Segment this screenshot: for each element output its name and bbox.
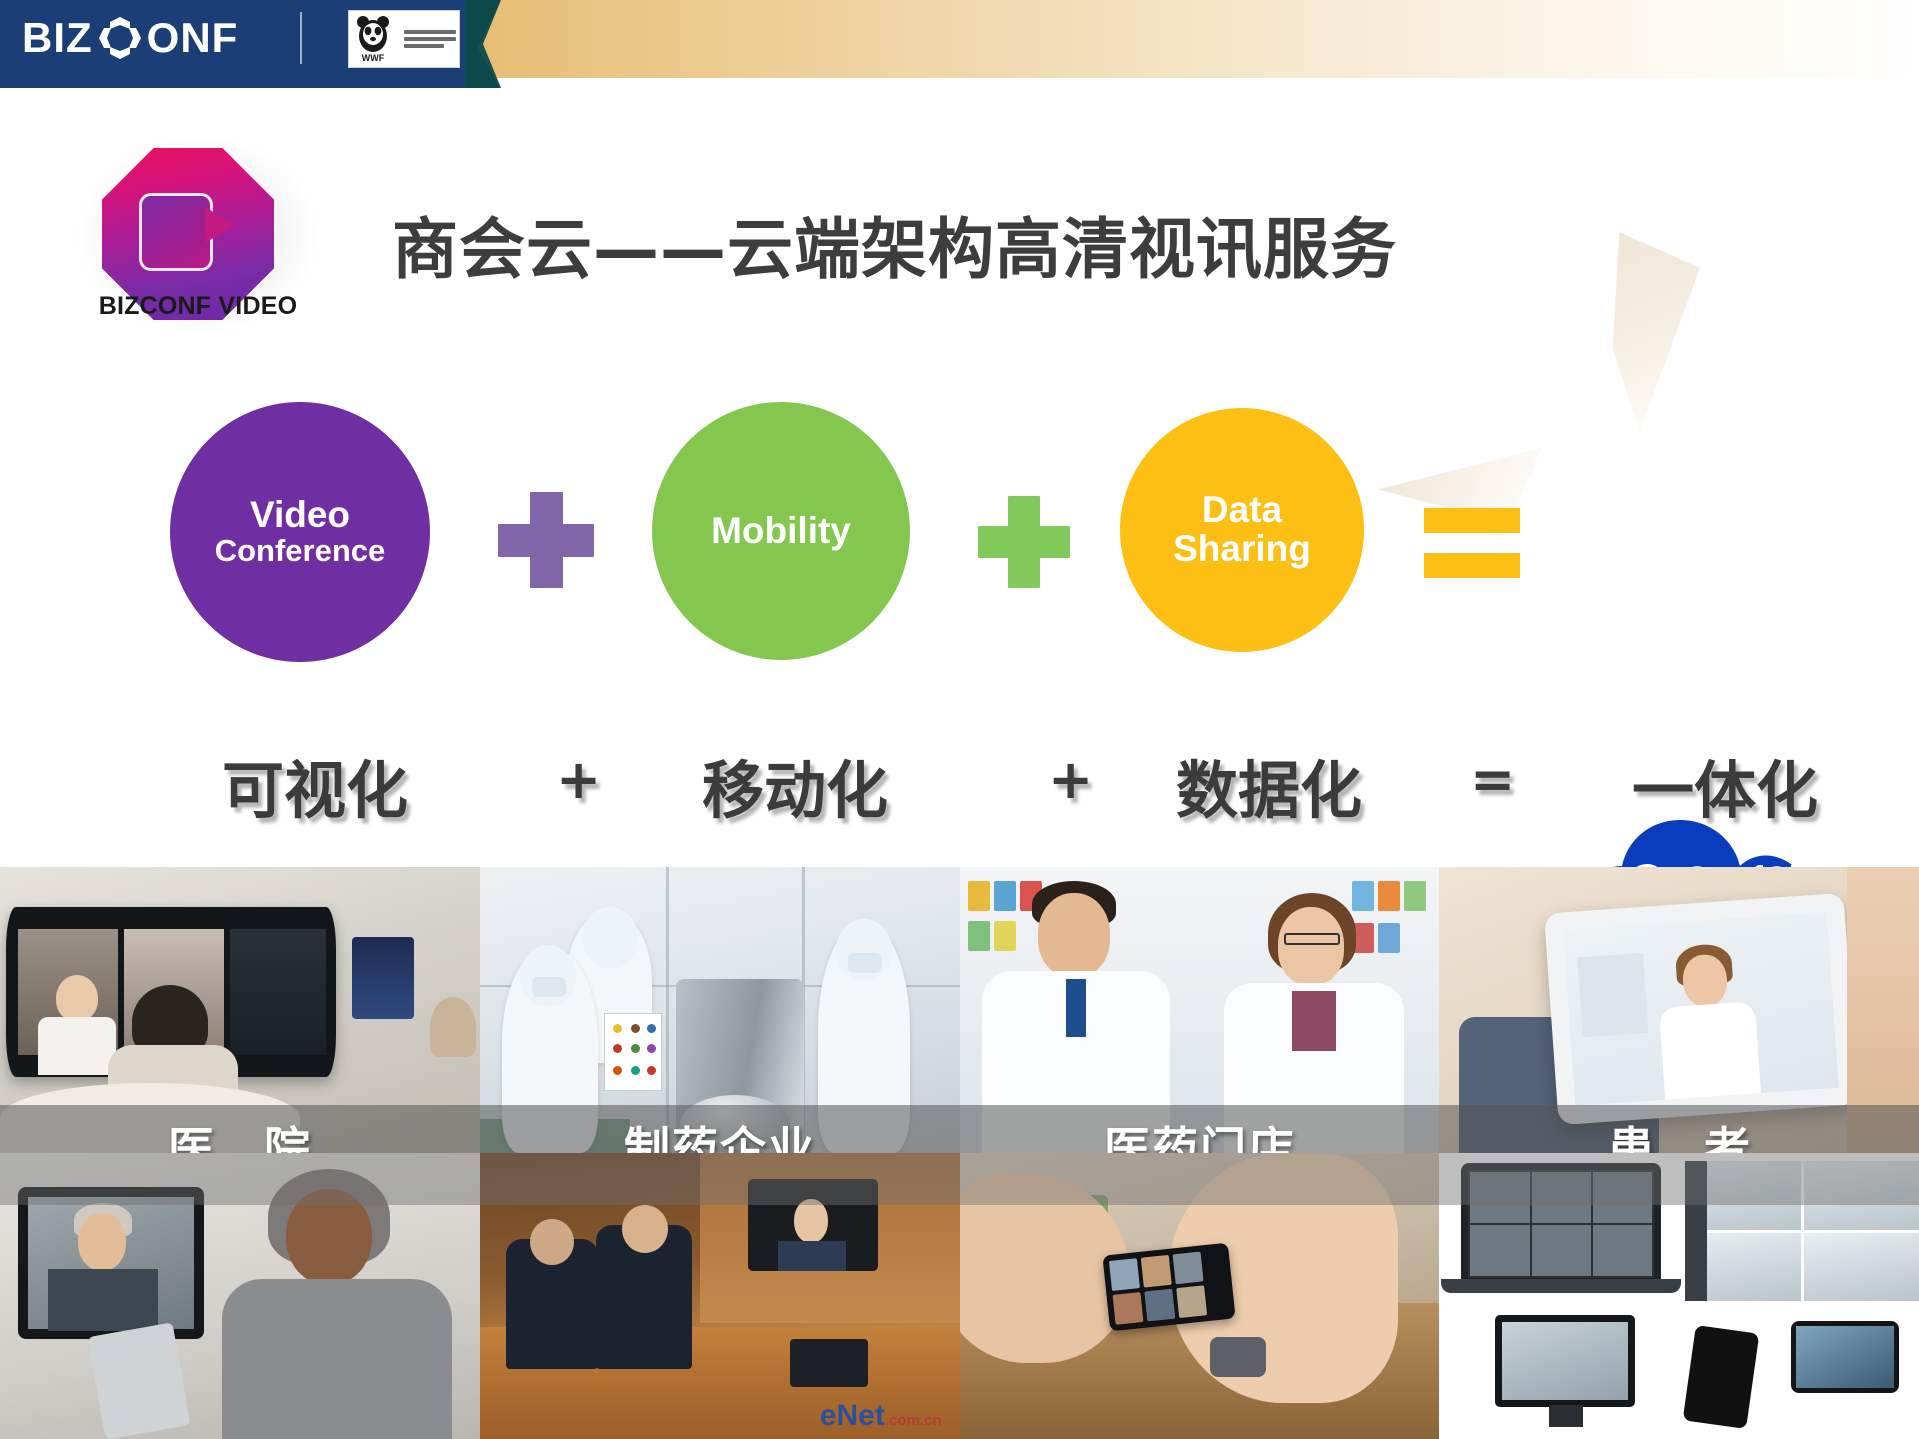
formula-row: Video Conference Mobility Data Sharing C — [0, 400, 1919, 660]
wwf-chinese-caption — [401, 30, 456, 48]
page-title: 商会云——云端架构高清视讯服务 — [392, 196, 1397, 292]
logo-caption: BIZCONF VIDEO — [82, 292, 314, 321]
bubble-data-line2: Sharing — [1173, 530, 1311, 569]
wwf-partner-logo: WWF — [348, 10, 460, 68]
keyword-datafication: 数据化 — [1176, 740, 1362, 830]
keyword-visualization: 可视化 — [222, 740, 408, 830]
panda-icon: WWF — [353, 14, 393, 64]
bubble-data-line1: Data — [1202, 491, 1282, 530]
brand-prefix-text: BIZ — [22, 14, 93, 62]
keyword-mobility: 移动化 — [702, 740, 888, 830]
keyword-plus-1: + — [556, 748, 601, 811]
photo-grid: 医 院 制药企业 医药门店 患 者 — [0, 867, 1919, 1439]
bizconf-gear-icon — [97, 15, 143, 61]
bubble-video-line2: Conference — [215, 535, 386, 568]
photo-row-bottom: eNet.com.cn — [0, 1153, 1919, 1439]
bizconf-wordmark: BIZ ONF — [22, 14, 238, 62]
bubble-video-conference[interactable]: Video Conference — [170, 402, 430, 662]
bizconf-video-logo: BIZCONF VIDEO — [82, 140, 314, 340]
bubble-mobility[interactable]: Mobility — [652, 402, 910, 660]
plus-operator-2-icon — [978, 496, 1070, 588]
keyword-row: 可视化 + 移动化 + 数据化 = 一体化 — [0, 740, 1919, 836]
equals-operator-icon — [1424, 508, 1520, 578]
svg-text:WWF: WWF — [362, 53, 385, 63]
header-divider — [300, 12, 302, 64]
keyword-plus-2: + — [1048, 748, 1093, 811]
bubble-data-sharing[interactable]: Data Sharing — [1120, 408, 1364, 652]
bubble-mobility-line1: Mobility — [711, 512, 851, 551]
brand-suffix-text: ONF — [147, 14, 239, 62]
bubble-video-line1: Video — [250, 496, 350, 535]
caption-band-bottom — [0, 1153, 1919, 1205]
plus-operator-1-icon — [498, 492, 594, 588]
slide-root: BIZ ONF — [0, 0, 1919, 1439]
keyword-equals: = — [1470, 748, 1515, 811]
enet-watermark: eNet.com.cn — [820, 1399, 942, 1433]
video-camera-icon — [139, 193, 237, 271]
header-brand-block: BIZ ONF — [0, 0, 500, 88]
keyword-integration: 一体化 — [1632, 740, 1818, 830]
photo-row-top: 医 院 制药企业 医药门店 患 者 — [0, 867, 1919, 1153]
